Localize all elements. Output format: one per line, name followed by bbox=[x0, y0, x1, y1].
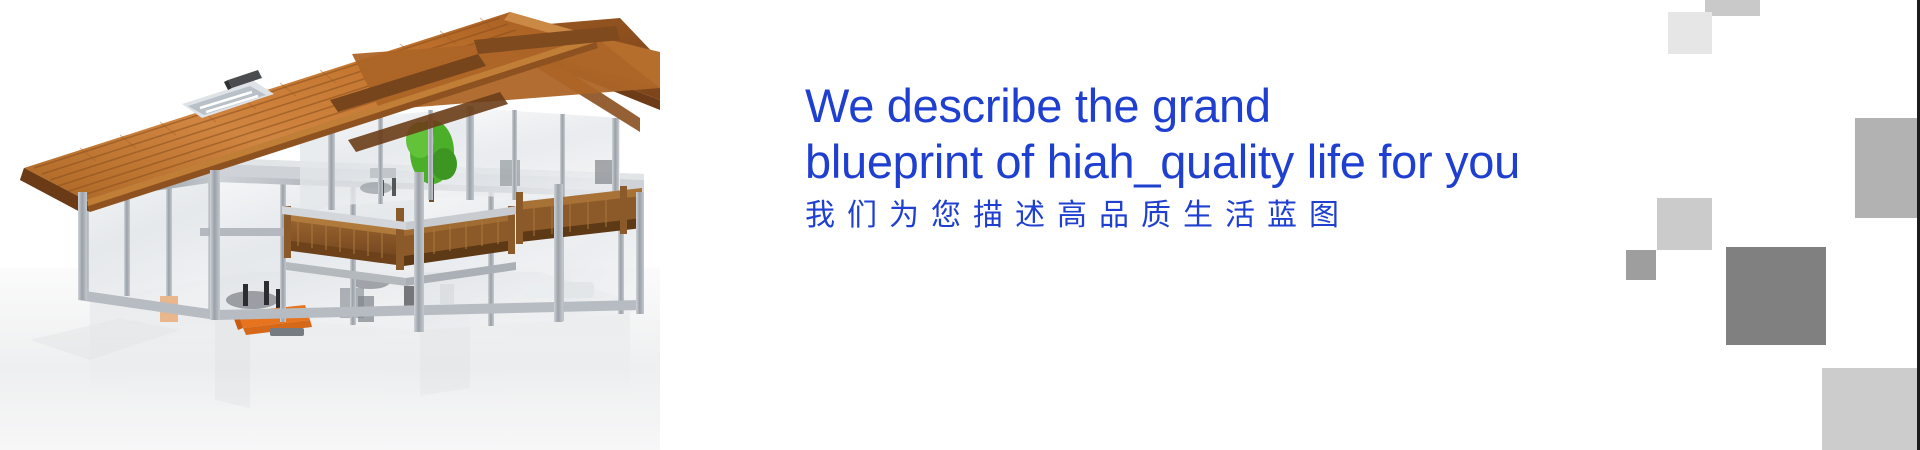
headline-block: We describe the grand blueprint of hiah_… bbox=[805, 78, 1705, 238]
deco-square-7 bbox=[1822, 368, 1920, 450]
deco-square-6 bbox=[1726, 247, 1826, 345]
headline-line-1: We describe the grand bbox=[805, 78, 1705, 134]
headline-subtitle-chinese: 我们为您描述高品质生活蓝图 bbox=[805, 194, 1705, 238]
house-render-svg bbox=[0, 0, 660, 450]
deco-square-5 bbox=[1626, 250, 1656, 280]
deco-square-1 bbox=[1705, 0, 1760, 16]
deco-square-3 bbox=[1855, 118, 1920, 218]
promo-banner: We describe the grand blueprint of hiah_… bbox=[0, 0, 1920, 450]
house-illustration bbox=[0, 0, 660, 450]
headline-line-2: blueprint of hiah_quality life for you bbox=[805, 134, 1705, 190]
deco-square-2 bbox=[1668, 12, 1712, 54]
